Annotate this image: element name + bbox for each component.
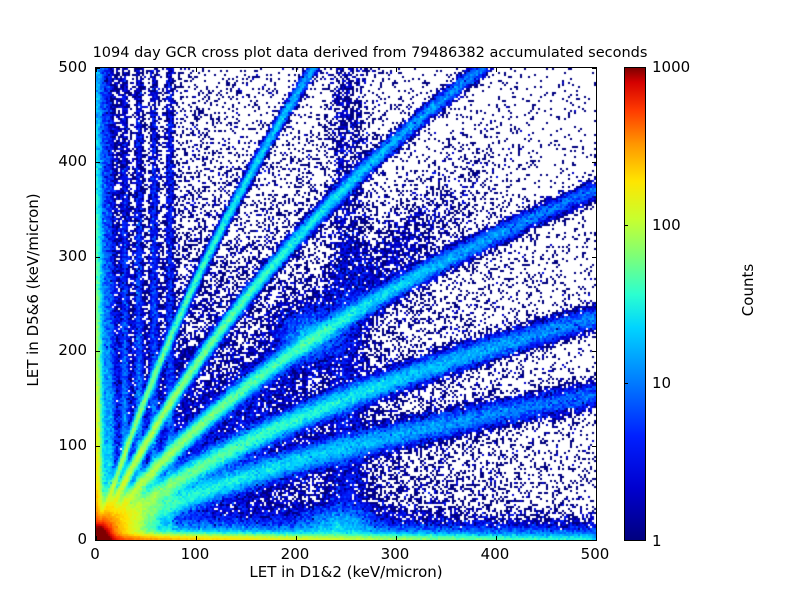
x-tick-label-400: 400 — [481, 545, 510, 563]
y-tick-label-500: 500 — [1, 58, 87, 76]
y-tick-right-100 — [592, 446, 597, 447]
colorbar-tick-100 — [624, 225, 628, 226]
colorbar-tick-label-10: 10 — [652, 374, 671, 392]
x-tick-label-300: 300 — [381, 545, 410, 563]
colorbar-tick-label-100: 100 — [652, 216, 681, 234]
colorbar-tick-10 — [624, 383, 628, 384]
x-tick-label-0: 0 — [90, 545, 100, 563]
x-tick-400 — [496, 536, 497, 541]
density-scatter-plot — [96, 68, 596, 540]
colorbar-label: Counts — [739, 190, 757, 390]
x-tick-300 — [396, 536, 397, 541]
y-tick-400 — [95, 162, 100, 163]
x-tick-top-300 — [396, 67, 397, 72]
y-tick-right-200 — [592, 351, 597, 352]
plot-axes — [95, 67, 597, 541]
x-tick-100 — [196, 536, 197, 541]
colorbar-tick-label-1000: 1000 — [652, 58, 690, 76]
plot-title-line-1: 1094 day GCR cross plot data derived fro… — [0, 44, 740, 63]
x-tick-top-200 — [296, 67, 297, 72]
x-tick-200 — [296, 536, 297, 541]
x-tick-top-400 — [496, 67, 497, 72]
y-tick-right-400 — [592, 162, 597, 163]
colorbar-tick-label-1: 1 — [652, 532, 662, 550]
y-tick-label-400: 400 — [1, 152, 87, 170]
y-axis-label: LET in D5&6 (keV/micron) — [24, 190, 42, 390]
x-tick-label-500: 500 — [581, 545, 610, 563]
y-tick-right-300 — [592, 257, 597, 258]
x-tick-label-100: 100 — [181, 545, 210, 563]
colorbar-container — [624, 67, 646, 541]
y-tick-label-300: 300 — [1, 247, 87, 265]
x-tick-top-100 — [196, 67, 197, 72]
y-tick-right-500 — [592, 68, 597, 69]
figure-canvas: 1094 day GCR cross plot data derived fro… — [0, 0, 800, 600]
x-tick-label-200: 200 — [281, 545, 310, 563]
y-tick-label-200: 200 — [1, 341, 87, 359]
y-tick-200 — [95, 351, 100, 352]
y-tick-500 — [95, 68, 100, 69]
y-tick-right-0 — [592, 540, 597, 541]
x-axis-label: LET in D1&2 (keV/micron) — [95, 563, 597, 581]
colorbar-gradient — [624, 67, 646, 541]
y-tick-label-0: 0 — [1, 530, 87, 548]
y-tick-label-100: 100 — [1, 436, 87, 454]
y-tick-100 — [95, 446, 100, 447]
y-tick-300 — [95, 257, 100, 258]
y-tick-0 — [95, 540, 100, 541]
